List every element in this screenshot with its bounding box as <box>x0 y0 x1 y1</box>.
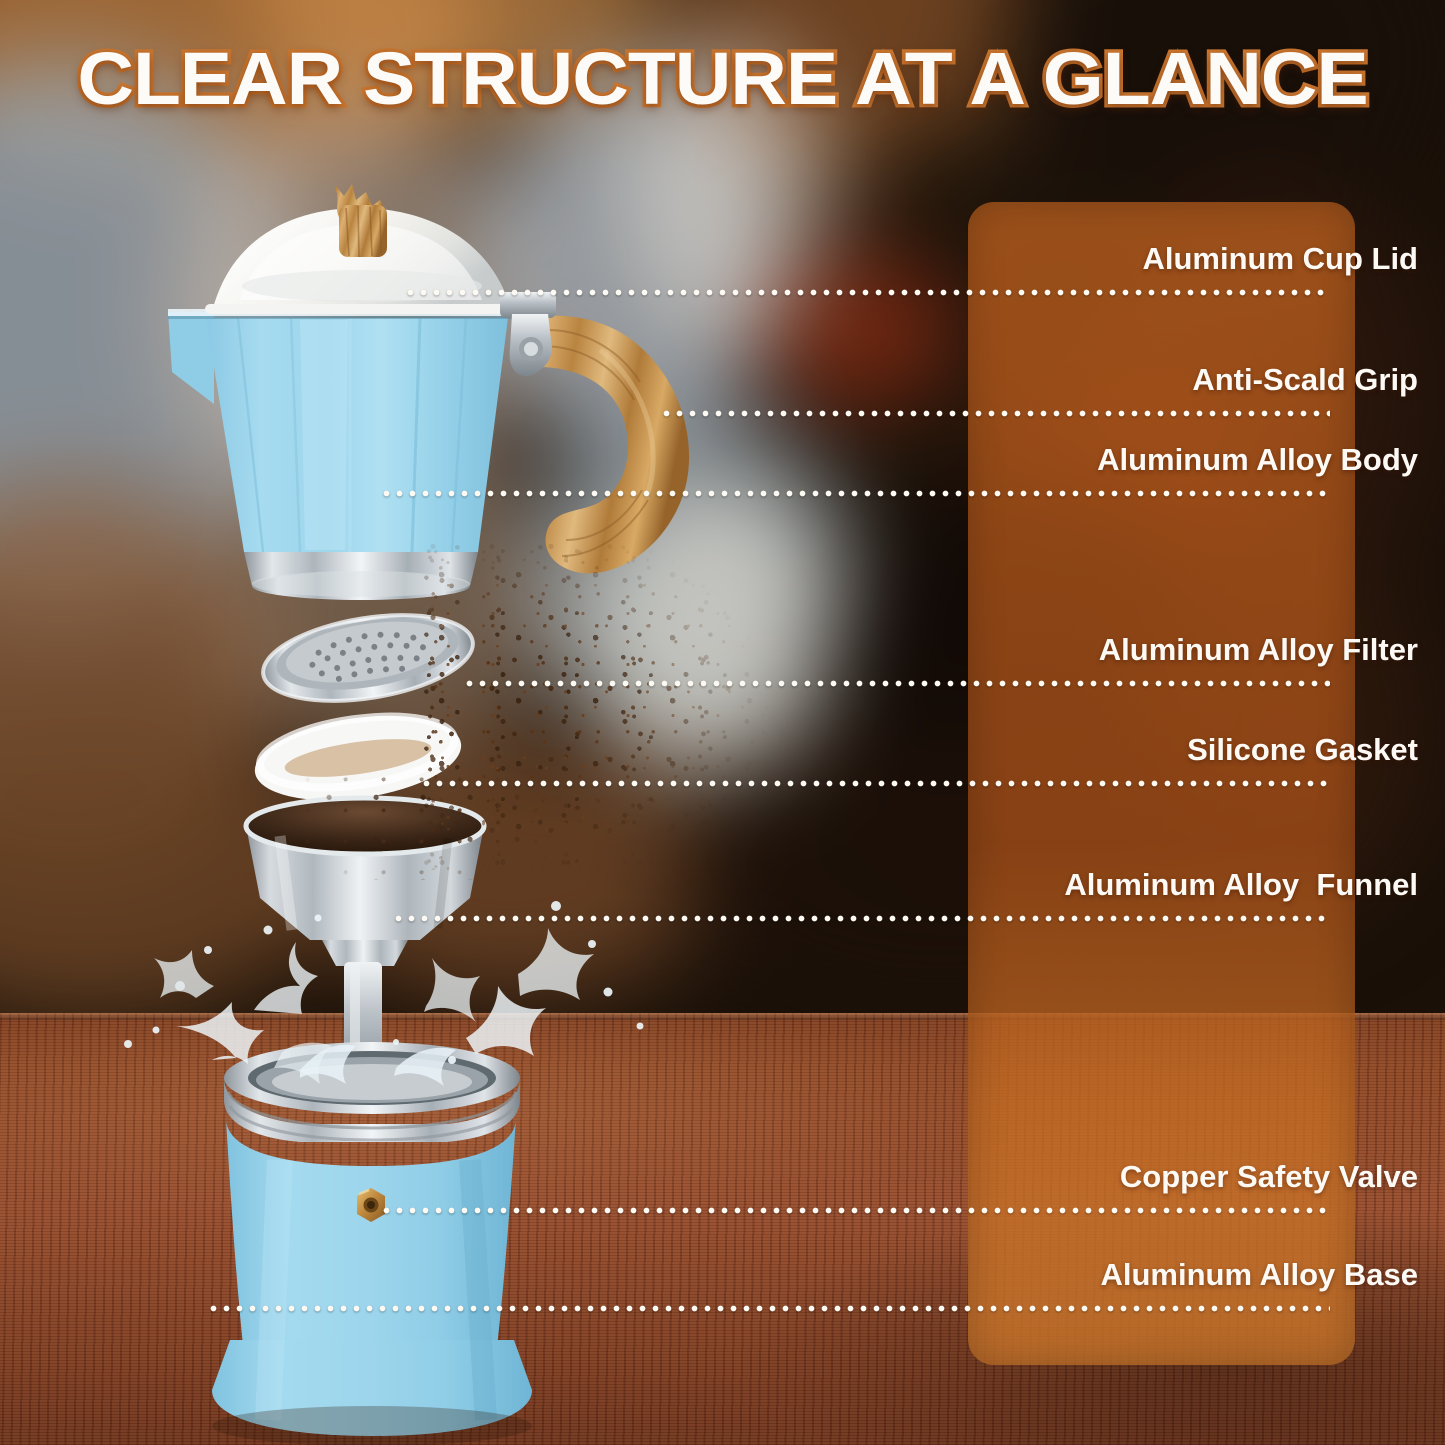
callout-label-4: Silicone Gasket <box>1187 732 1418 768</box>
infographic-canvas: CLEAR STRUCTURE AT A GLANCE Aluminum Cup… <box>0 0 1445 1445</box>
leader-line-7 <box>207 1305 1330 1312</box>
page-title: CLEAR STRUCTURE AT A GLANCE <box>0 42 1445 116</box>
callout-label-3: Aluminum Alloy Filter <box>1099 632 1418 668</box>
callout-label-5: Aluminum Alloy Funnel <box>1064 867 1418 903</box>
leader-line-4 <box>420 780 1330 787</box>
leader-line-1 <box>660 410 1330 417</box>
callout-label-6: Copper Safety Valve <box>1120 1159 1418 1195</box>
leader-line-5 <box>392 915 1330 922</box>
leader-line-0 <box>404 289 1330 296</box>
leader-line-6 <box>380 1207 1330 1214</box>
leader-line-3 <box>463 680 1330 687</box>
callout-label-1: Anti-Scald Grip <box>1192 362 1418 398</box>
leader-line-2 <box>380 490 1330 497</box>
callout-label-2: Aluminum Alloy Body <box>1097 442 1418 478</box>
callout-label-0: Aluminum Cup Lid <box>1142 241 1418 277</box>
callout-label-7: Aluminum Alloy Base <box>1100 1257 1418 1293</box>
